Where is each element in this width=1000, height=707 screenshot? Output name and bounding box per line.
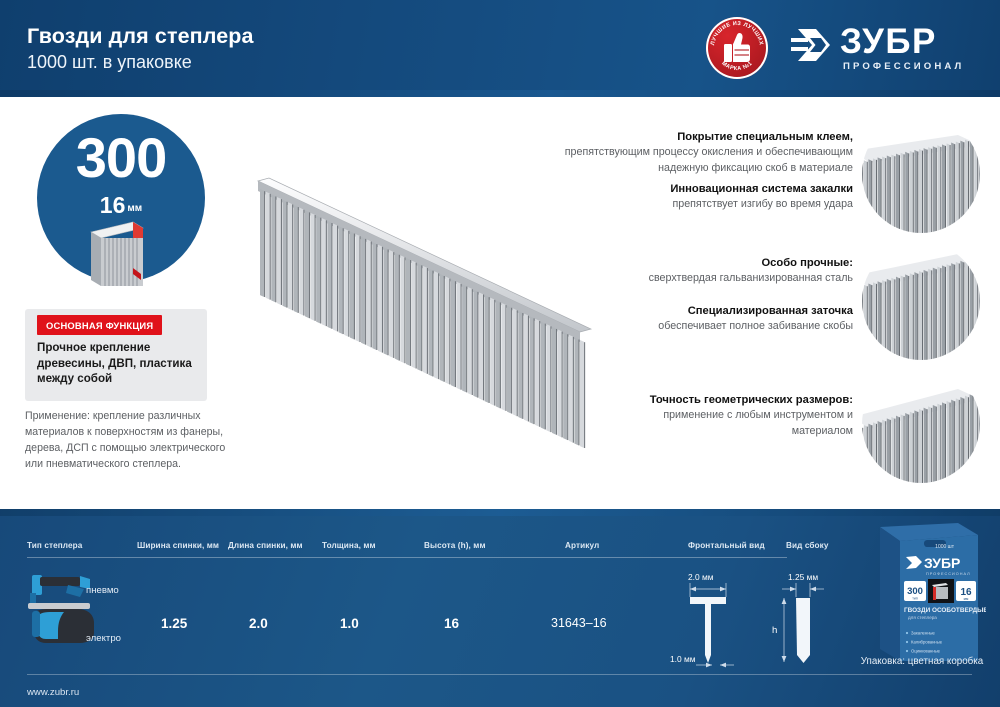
- pneumatic-stapler-icon: [28, 575, 90, 609]
- front-view-diagram: 2.0 мм 1.0 мм: [668, 567, 760, 677]
- feature-desc: сверхтвердая гальванизированная сталь: [580, 271, 853, 286]
- table-header-cell: Ширина спинки, мм: [137, 541, 219, 550]
- website-url[interactable]: www.zubr.ru: [27, 687, 79, 698]
- feature-item: Инновационная система закалки препятству…: [560, 182, 853, 213]
- table-header-cell: Высота (h), мм: [424, 541, 486, 550]
- table-header-cell: Артикул: [565, 541, 599, 550]
- nail-length: 16мм: [37, 192, 205, 219]
- table-header-cell: Вид сбоку: [786, 541, 828, 550]
- side-view-diagram: 1.25 мм h: [766, 567, 858, 677]
- package-length-unit: мм: [964, 597, 969, 601]
- feature-title: Точность геометрических размеров:: [620, 393, 853, 408]
- value-article: 31643–16: [551, 616, 607, 630]
- package-brand: ЗУБР: [924, 555, 960, 571]
- package-product-name: ГВОЗДИ ОСОБОТВЕРДЫЕ: [904, 607, 986, 614]
- package-brand-sub: ПРОФЕССИОНАЛ: [926, 572, 971, 576]
- nail-strip-small-icon: [85, 218, 159, 290]
- feature-desc: препятствующим процессу окисления и обес…: [520, 145, 853, 175]
- package-product-sub: для степлера: [908, 615, 937, 620]
- value-height: 16: [444, 616, 459, 631]
- main-function-badge: ОСНОВНАЯ ФУНКЦИЯ: [37, 315, 162, 335]
- nail-closeup-icon: [862, 115, 980, 233]
- table-header-cell: Толщина, мм: [322, 541, 376, 550]
- feature-desc: применение с любым инструментом и матери…: [620, 408, 853, 438]
- side-height-label: h: [772, 625, 777, 636]
- nail-length-value: 16: [100, 192, 126, 218]
- feature-title: Специализированная заточка: [580, 304, 853, 319]
- electric-stapler-icon: [32, 609, 94, 643]
- feature-desc: обеспечивает полное забивание скобы: [580, 319, 853, 334]
- value-back-width: 1.25: [161, 616, 187, 631]
- front-bottom-dim-label: 1.0 мм: [670, 654, 696, 664]
- main-function-text: Прочное крепление древесины, ДВП, пласти…: [37, 340, 202, 387]
- page-title: Гвозди для степлера: [27, 24, 254, 49]
- best-of-best-badge: ЛУЧШИЕ ИЗ ЛУЧШИХ МАРКА №1: [706, 17, 768, 79]
- package-type-number: 300: [907, 586, 923, 597]
- package-note: Упаковка: цветная коробка: [852, 656, 992, 667]
- feature-title: Особо прочные:: [580, 256, 853, 271]
- thumbs-up-icon: [722, 31, 752, 65]
- feature-item: Точность геометрических размеров: примен…: [620, 393, 853, 439]
- package-bullet: Закаленные: [911, 631, 936, 636]
- footer-divider: [27, 674, 972, 675]
- table-header-cell: Длина спинки, мм: [228, 541, 303, 550]
- datasheet-page: Гвозди для степлера 1000 шт. в упаковке …: [0, 0, 1000, 707]
- zubr-arrow-mark-icon: [790, 25, 832, 65]
- feature-item: Особо прочные: сверхтвердая гальванизиро…: [580, 256, 853, 287]
- feature-title: Покрытие специальным клеем,: [520, 130, 853, 145]
- brand-tagline: ПРОФЕССИОНАЛ: [843, 61, 964, 72]
- feature-item: Специализированная заточка обеспечивает …: [580, 304, 853, 335]
- table-header-divider: [27, 557, 787, 558]
- value-back-length: 2.0: [249, 616, 268, 631]
- nail-closeup-icon: [862, 242, 980, 360]
- detail-photo: [862, 242, 980, 360]
- application-text: Применение: крепление различных материал…: [25, 408, 240, 472]
- detail-photo: [862, 115, 980, 233]
- table-header-cell: Фронтальный вид: [688, 541, 765, 550]
- brand-logo: ЗУБР ПРОФЕССИОНАЛ: [790, 22, 976, 76]
- package-bullet: Калиброванные: [911, 640, 943, 645]
- feature-desc: препятствует изгибу во время удара: [560, 197, 853, 212]
- feature-item: Покрытие специальным клеем, препятствующ…: [520, 130, 853, 176]
- detail-photo: [862, 365, 980, 483]
- package-bullet: Оцинкованные: [911, 649, 941, 654]
- stapler-type-label: пневмо: [86, 585, 119, 596]
- product-package: 1000 шт ЗУБР ПРОФЕССИОНАЛ 300 тип 16 мм …: [866, 521, 986, 673]
- stapler-type-icons: [24, 571, 139, 649]
- main-content: 300 16мм ОСНОВНАЯ ФУНКЦИЯ: [0, 97, 1000, 509]
- stapler-type-label: электро: [86, 633, 121, 644]
- type-circle: 300 16мм: [37, 114, 205, 282]
- nail-length-unit: мм: [127, 203, 142, 214]
- package-count: 1000 шт: [935, 544, 955, 550]
- package-type-label: тип: [912, 597, 918, 601]
- table-header-cell: Тип степлера: [27, 541, 82, 550]
- type-number: 300: [37, 130, 205, 186]
- front-top-dim-label: 2.0 мм: [688, 572, 714, 582]
- value-thickness: 1.0: [340, 616, 359, 631]
- page-header: Гвозди для степлера 1000 шт. в упаковке …: [0, 0, 1000, 97]
- spec-footer: Тип степлера Ширина спинки, мм Длина спи…: [0, 509, 1000, 707]
- side-top-dim-label: 1.25 мм: [788, 572, 818, 582]
- nail-closeup-icon: [862, 365, 980, 483]
- feature-title: Инновационная система закалки: [560, 182, 853, 197]
- brand-name: ЗУБР: [840, 22, 937, 62]
- page-subtitle: 1000 шт. в упаковке: [27, 52, 192, 73]
